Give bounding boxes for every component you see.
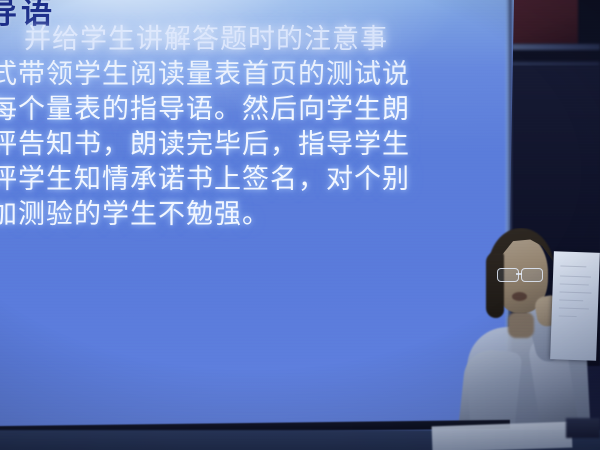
slide-line-2: 式带领学生阅读量表首页的测试说 — [0, 57, 520, 92]
desk-object — [566, 418, 600, 438]
slide-line-6: 加测验的学生不勉强。 — [0, 197, 520, 232]
slide-content: 导语 并给学生讲解答题时的注意事 式带领学生阅读量表首页的测试说 每个量表的指导… — [0, 0, 520, 260]
slide-line-5: 评学生知情承诺书上签名，对个别 — [0, 162, 520, 197]
slide-line-3: 每个量表的指导语。然后向学生朗 — [0, 92, 520, 127]
classroom-photo: 导语 并给学生讲解答题时的注意事 式带领学生阅读量表首页的测试说 每个量表的指导… — [0, 0, 600, 450]
slide-line-4: 评告知书，朗读完毕后，指导学生 — [0, 127, 520, 162]
desk-papers — [432, 422, 573, 450]
held-document — [550, 251, 600, 361]
slide-body: 并给学生讲解答题时的注意事 式带领学生阅读量表首页的测试说 每个量表的指导语。然… — [0, 22, 520, 232]
slide-line-1: 并给学生讲解答题时的注意事 — [0, 22, 520, 57]
